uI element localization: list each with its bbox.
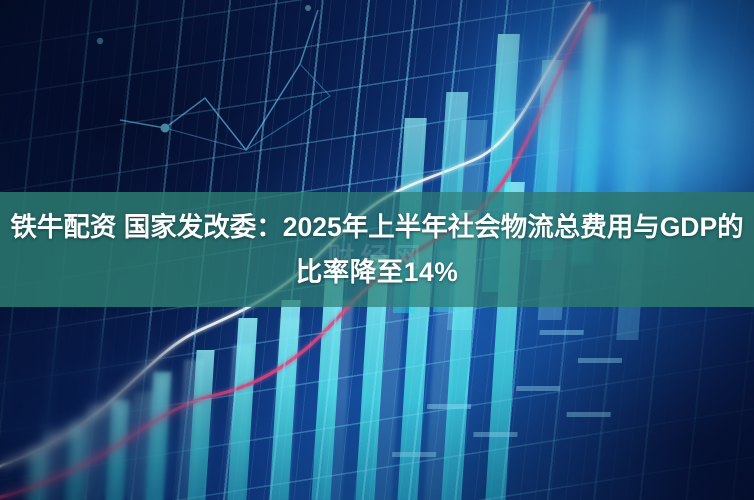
article-cover-image: 财经网 铁牛配资 国家发改委：2025年上半年社会物流总费用与GDP的 比率降至… (0, 0, 754, 500)
page-title-line-1: 铁牛配资 国家发改委：2025年上半年社会物流总费用与GDP的 (10, 205, 743, 250)
page-title-line-2: 比率降至14% (296, 250, 459, 295)
headline-banner: 财经网 铁牛配资 国家发改委：2025年上半年社会物流总费用与GDP的 比率降至… (0, 192, 754, 307)
